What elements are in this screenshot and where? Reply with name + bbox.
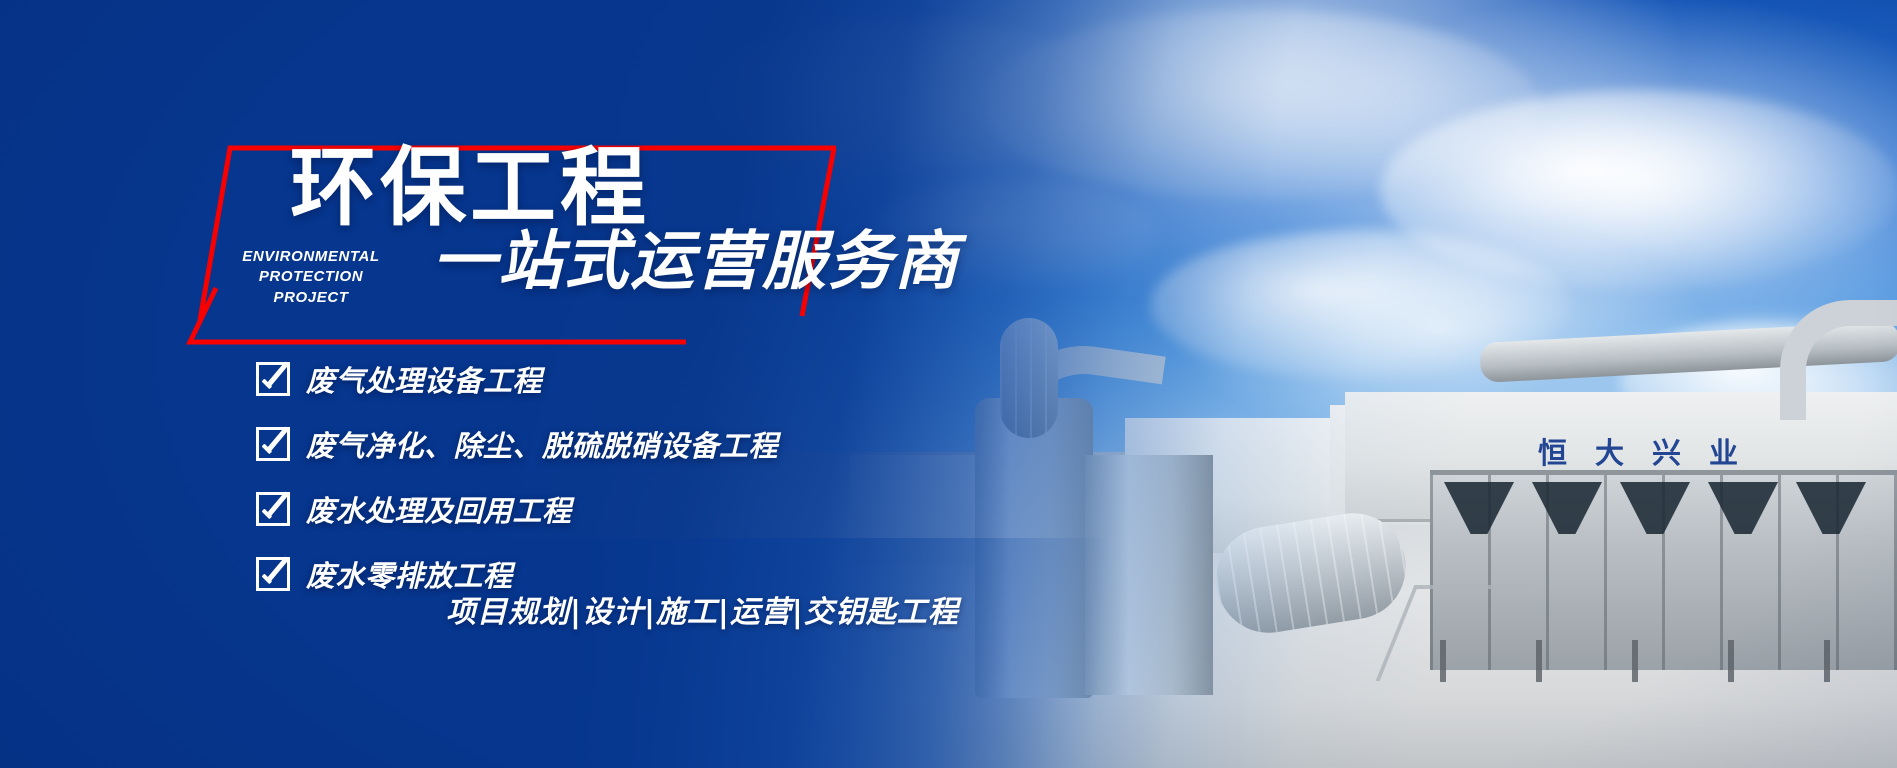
list-item-label: 废水零排放工程 [306,553,513,595]
page-subtitle: 一站式运营服务商 [432,230,960,294]
list-item: 废水处理及回用工程 [256,488,778,530]
page-title: 环保工程 [290,145,650,233]
hero-banner: 恒 大 兴 业 [0,0,1897,768]
checkbox-checked-icon [256,427,290,461]
list-item: 废气处理设备工程 [256,358,778,400]
checkbox-checked-icon [256,492,290,526]
banner-content: 环保工程 一站式运营服务商 ENVIRONMENTAL PROTECTION P… [0,0,1897,768]
list-item: 废水零排放工程 [256,553,778,595]
english-tagline-line1: ENVIRONMENTAL PROTECTION [196,247,426,288]
services-bar-zone: 项目规划|设计|施工|运营|交钥匙工程 [186,290,886,360]
list-item: 废气净化、除尘、脱硫脱硝设备工程 [256,423,778,465]
list-item-label: 废气净化、除尘、脱硫脱硝设备工程 [306,423,778,465]
list-item-label: 废气处理设备工程 [306,358,542,400]
checkbox-checked-icon [256,362,290,396]
service-check-list: 废气处理设备工程 废气净化、除尘、脱硫脱硝设备工程 废水处理及回用工程 废水零排… [256,358,778,595]
list-item-label: 废水处理及回用工程 [306,488,572,530]
checkbox-checked-icon [256,557,290,591]
